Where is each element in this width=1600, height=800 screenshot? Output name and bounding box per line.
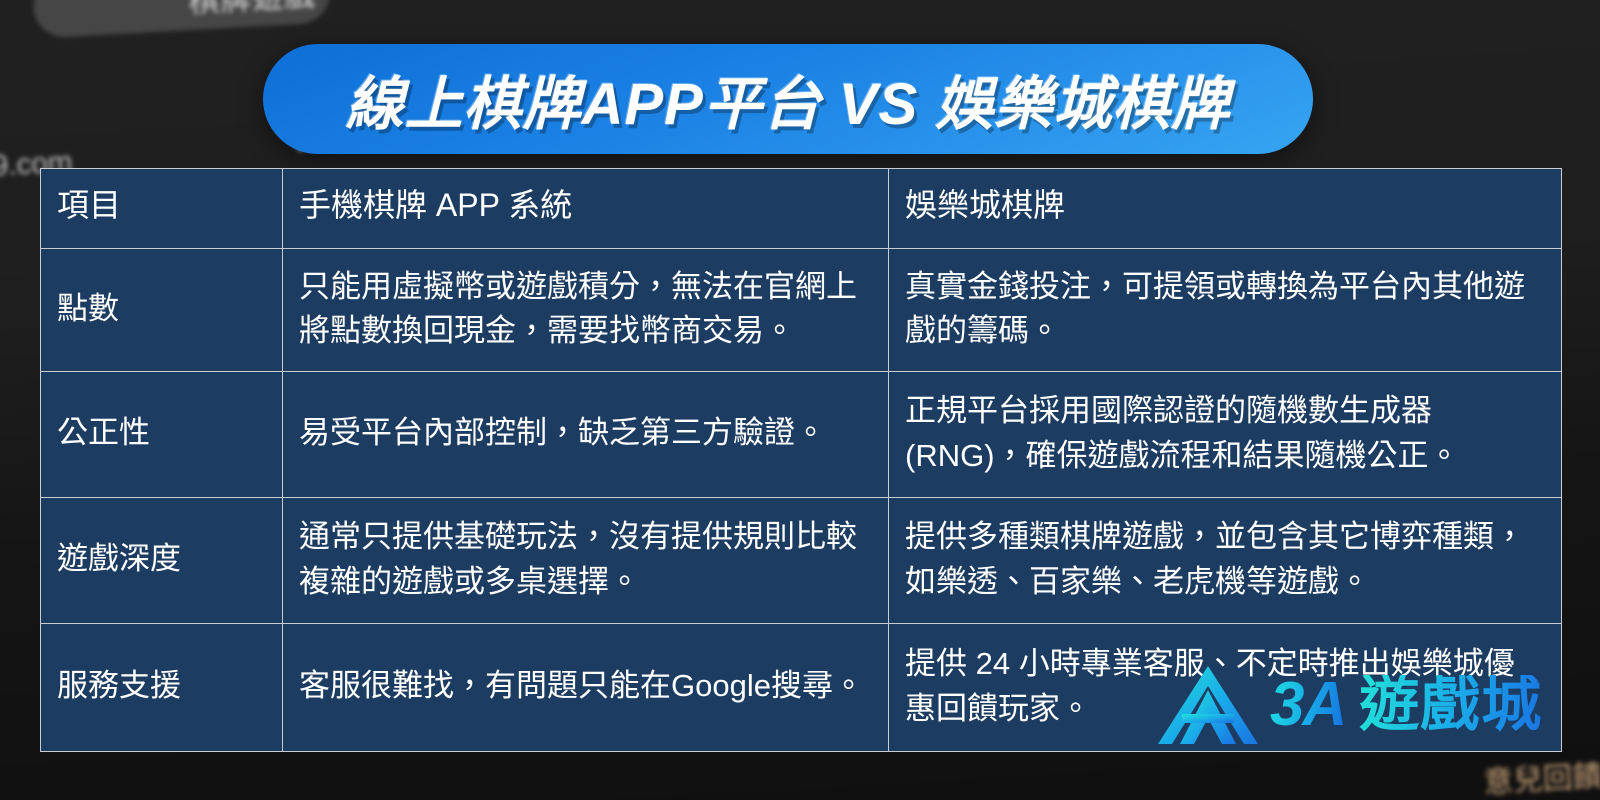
cell-casino-game-depth: 提供多種類棋牌遊戲，並包含其它博弈種類，如樂透、百家樂、老虎機等遊戲。: [889, 498, 1562, 624]
cell-casino-points: 真實金錢投注，可提領或轉換為平台內其他遊戲的籌碼。: [889, 249, 1562, 372]
title-banner: 線上棋牌APP平台 VS 娛樂城棋牌: [263, 44, 1313, 154]
table-row: 遊戲深度 通常只提供基礎玩法，沒有提供規則比較複雜的遊戲或多桌選擇。 提供多種類…: [41, 498, 1562, 624]
cell-casino-fairness: 正規平台採用國際認證的隨機數生成器(RNG)，確保遊戲流程和結果隨機公正。: [889, 372, 1562, 498]
column-header-app: 手機棋牌 APP 系統: [283, 169, 889, 249]
comparison-table: 項目 手機棋牌 APP 系統 娛樂城棋牌 點數 只能用虛擬幣或遊戲積分，無法在官…: [40, 168, 1562, 752]
poster-canvas: ogle 棋牌遊戲 s.4399.com w.4399.com / top 四人…: [0, 0, 1600, 800]
row-label-support: 服務支援: [41, 624, 283, 752]
row-label-game-depth: 遊戲深度: [41, 498, 283, 624]
table-row: 公正性 易受平台內部控制，缺乏第三方驗證。 正規平台採用國際認證的隨機數生成器(…: [41, 372, 1562, 498]
table-row: 點數 只能用虛擬幣或遊戲積分，無法在官網上將點數換回現金，需要找幣商交易。 真實…: [41, 249, 1562, 372]
page-title: 線上棋牌APP平台 VS 娛樂城棋牌: [346, 57, 1231, 141]
cell-casino-support: 提供 24 小時專業客服、不定時推出娛樂城優惠回饋玩家。: [889, 624, 1562, 752]
background-bottom-fragment-5: 意兒回饋: [1482, 753, 1600, 800]
column-header-item: 項目: [41, 169, 283, 249]
cell-app-fairness: 易受平台內部控制，缺乏第三方驗證。: [283, 372, 889, 498]
table-row: 服務支援 客服很難找，有問題只能在Google搜尋。 提供 24 小時專業客服、…: [41, 624, 1562, 752]
cell-app-support: 客服很難找，有問題只能在Google搜尋。: [283, 624, 889, 752]
table-header-row: 項目 手機棋牌 APP 系統 娛樂城棋牌: [41, 169, 1562, 249]
cell-app-game-depth: 通常只提供基礎玩法，沒有提供規則比較複雜的遊戲或多桌選擇。: [283, 498, 889, 624]
row-label-points: 點數: [41, 249, 283, 372]
cell-app-points: 只能用虛擬幣或遊戲積分，無法在官網上將點數換回現金，需要找幣商交易。: [283, 249, 889, 372]
row-label-fairness: 公正性: [41, 372, 283, 498]
background-search-pill-label: 棋牌遊戲: [187, 0, 317, 21]
column-header-casino: 娛樂城棋牌: [889, 169, 1562, 249]
